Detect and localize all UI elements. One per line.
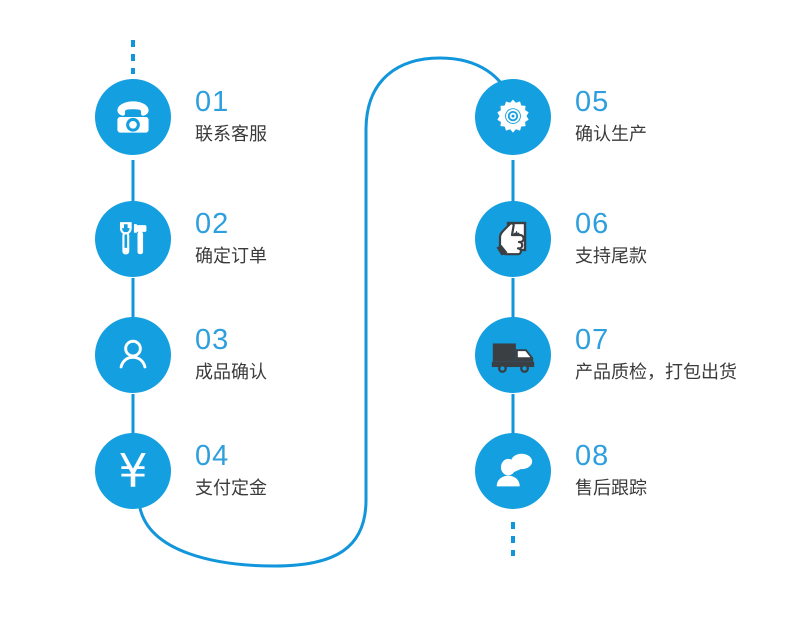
step-number: 02 (195, 210, 267, 239)
step-number: 03 (195, 326, 267, 355)
process-flow-infographic: 01 联系客服 02 (0, 0, 790, 619)
wrench-hammer-icon (110, 216, 156, 262)
step-text-06: 06 支持尾款 (575, 210, 647, 268)
step-item-02[interactable]: 02 确定订单 (95, 201, 267, 277)
gear-icon (491, 95, 535, 139)
step-item-01[interactable]: 01 联系客服 (95, 79, 267, 155)
person-speech-bubble-icon (490, 448, 536, 494)
step-text-08: 08 售后跟踪 (575, 442, 647, 500)
step-label: 确定订单 (195, 244, 267, 268)
step-number: 07 (575, 326, 737, 355)
step-item-07[interactable]: 07 产品质检，打包出货 (475, 317, 737, 393)
step-item-05[interactable]: 05 确认生产 (475, 79, 647, 155)
step-circle-08[interactable] (475, 433, 551, 509)
step-circle-05[interactable] (475, 79, 551, 155)
step-text-01: 01 联系客服 (195, 88, 267, 146)
step-text-07: 07 产品质检，打包出货 (575, 326, 737, 384)
step-circle-04[interactable]: ¥ (95, 433, 171, 509)
step-number: 06 (575, 210, 647, 239)
yen-currency-icon: ¥ (118, 448, 147, 494)
step-circle-03[interactable] (95, 317, 171, 393)
step-item-08[interactable]: 08 售后跟踪 (475, 433, 647, 509)
person-outline-icon (111, 333, 155, 377)
hand-money-icon: $ (489, 215, 537, 263)
step-text-04: 04 支付定金 (195, 442, 267, 500)
step-item-06[interactable]: $ 06 支持尾款 (475, 201, 647, 277)
step-circle-02[interactable] (95, 201, 171, 277)
step-text-03: 03 成品确认 (195, 326, 267, 384)
step-label: 联系客服 (195, 122, 267, 146)
step-number: 04 (195, 442, 267, 471)
step-label: 支付定金 (195, 476, 267, 500)
step-label: 确认生产 (575, 122, 647, 146)
step-text-02: 02 确定订单 (195, 210, 267, 268)
step-circle-01[interactable] (95, 79, 171, 155)
step-circle-06[interactable]: $ (475, 201, 551, 277)
step-label: 产品质检，打包出货 (575, 360, 737, 384)
telephone-icon (111, 95, 155, 139)
step-label: 支持尾款 (575, 244, 647, 268)
delivery-truck-icon (488, 330, 538, 380)
step-circle-07[interactable] (475, 317, 551, 393)
step-item-04[interactable]: ¥ 04 支付定金 (95, 433, 267, 509)
step-item-03[interactable]: 03 成品确认 (95, 317, 267, 393)
step-number: 08 (575, 442, 647, 471)
step-number: 05 (575, 88, 647, 117)
step-label: 成品确认 (195, 360, 267, 384)
step-number: 01 (195, 88, 267, 117)
step-text-05: 05 确认生产 (575, 88, 647, 146)
step-label: 售后跟踪 (575, 476, 647, 500)
